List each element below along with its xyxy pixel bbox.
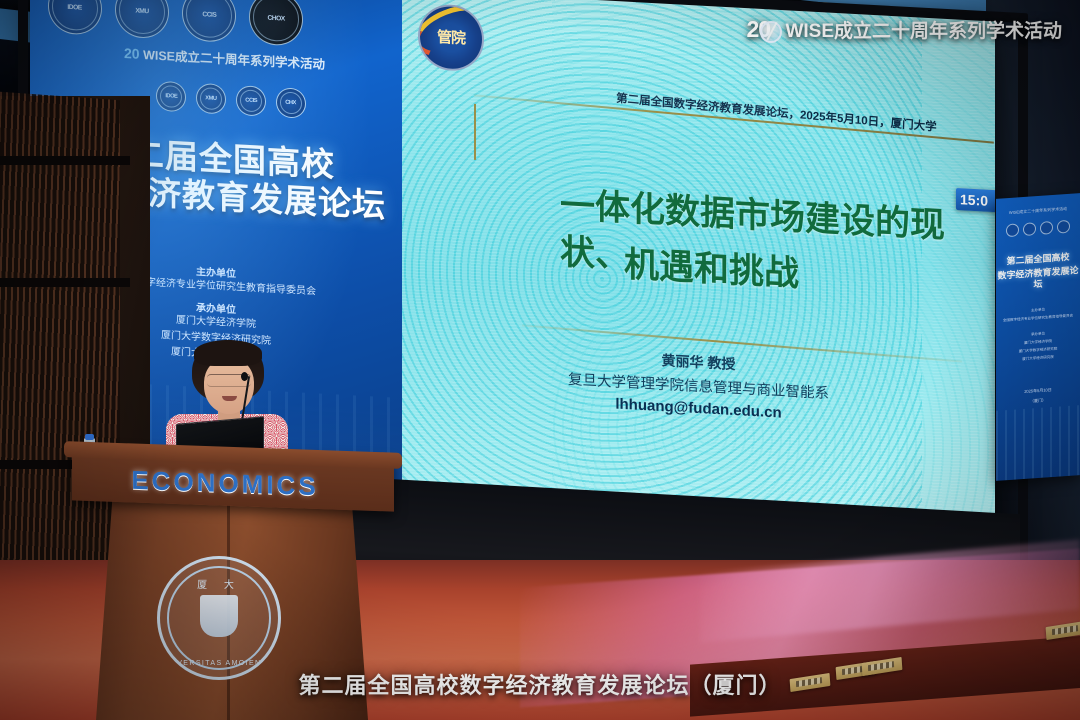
seal-xmu-small: XMU: [196, 83, 226, 115]
acoustic-panel-gap-1: [0, 156, 130, 165]
wise-globe-icon: [760, 21, 782, 43]
seal-ccis-small: CCIS: [236, 85, 266, 117]
side-seal-1: [1006, 223, 1019, 237]
banner-series-text: WISE成立二十周年系列学术活动: [143, 48, 325, 72]
banner-seal-row-small: IDOE XMU CCIS CHX: [156, 81, 306, 119]
seal-xmu: XMU: [115, 0, 169, 39]
side-led-panel: WISE成立二十周年系列学术活动 第二届全国高校 数字经济教育发展论坛 主办单位…: [996, 193, 1080, 481]
side-panel-series: WISE成立二十周年系列学术活动: [996, 205, 1080, 217]
speaker-hair-fringe: [194, 340, 262, 366]
side-panel-seal-row: [996, 219, 1080, 238]
water-bottle-cap: [85, 434, 94, 440]
banner-series-line: 20 WISE成立二十周年系列学术活动: [124, 43, 325, 73]
seal-sdue-small: IDOE: [156, 81, 186, 113]
logo-glyph: 管院: [420, 25, 482, 49]
slide-rule-left: [474, 104, 476, 160]
seal-shield: [200, 595, 238, 637]
xmu-podium-seal: 厦 大 UNIVERSITAS AMOIENSIS: [157, 556, 281, 680]
countdown-timer-badge: 15:0: [956, 188, 995, 212]
acoustic-panel-gap-2: [0, 278, 130, 287]
side-seal-2: [1023, 222, 1036, 236]
banner-series-mark: 20: [124, 45, 140, 62]
seal-ccis: CCIS: [182, 0, 236, 43]
microphone-head: [241, 372, 248, 381]
seal-sdue: IDOE: [48, 0, 102, 36]
side-panel-title-line2: 数字经济教育发展论坛: [996, 265, 1080, 292]
side-seal-3: [1040, 221, 1053, 235]
bottom-caption: 第二届全国高校数字经济教育发展论坛（厦门）: [0, 668, 1080, 700]
seal-latin-text: UNIVERSITAS AMOIENSIS: [160, 660, 278, 667]
slide-title-line2: 机遇和挑战: [624, 242, 799, 298]
side-seal-4: [1057, 220, 1070, 234]
side-panel-skyline: [996, 405, 1080, 481]
wise-anniversary-logo: 20: [746, 14, 776, 44]
banner-seal-row-top: IDOE XMU CCIS CHOX: [48, 0, 303, 47]
seal-chinese-text: 厦 大: [160, 576, 278, 591]
top-watermark-text: WISE成立二十周年系列学术活动: [785, 16, 1062, 43]
top-right-watermark: 20 WISE成立二十周年系列学术活动: [746, 14, 1062, 44]
seal-chox-small: CHX: [276, 87, 306, 119]
conference-photo: IDOE XMU CCIS CHOX 20 WISE成立二十周年系列学术活动 I…: [0, 0, 1080, 720]
seal-chox: CHOX: [249, 0, 303, 47]
